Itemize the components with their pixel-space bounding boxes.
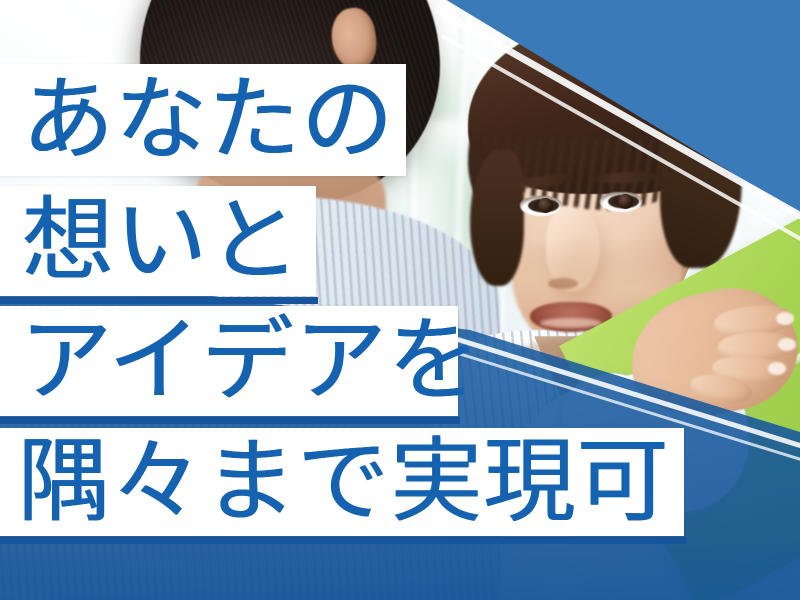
headline-band-1: あなたの [0, 64, 406, 176]
main-person-pupil-right [618, 194, 633, 209]
advertising-banner: あなたの 想いと アイデアを 隅々まで実現可 [0, 0, 800, 600]
headline-rule [0, 537, 686, 544]
main-person-sideburn [470, 150, 524, 286]
fingernail [768, 362, 786, 375]
fingernail [776, 312, 794, 325]
headline-rule [0, 417, 460, 424]
main-person-pupil-left [538, 198, 553, 213]
main-person-lip-highlight [540, 318, 602, 328]
headline-line-4: 隅々まで実現可 [0, 436, 670, 528]
headline-line-3: アイデアを [0, 315, 481, 407]
main-person-nostril [548, 278, 578, 289]
headline-line-2: 想いと [0, 195, 301, 287]
headline-band-4: 隅々まで実現可 [0, 428, 684, 536]
headline-line-1: あなたの [0, 74, 394, 166]
headline-band-3: アイデアを [0, 306, 458, 416]
headline-band-2: 想いと [0, 186, 316, 296]
headline-rule [0, 297, 318, 304]
fingernail [778, 338, 796, 351]
